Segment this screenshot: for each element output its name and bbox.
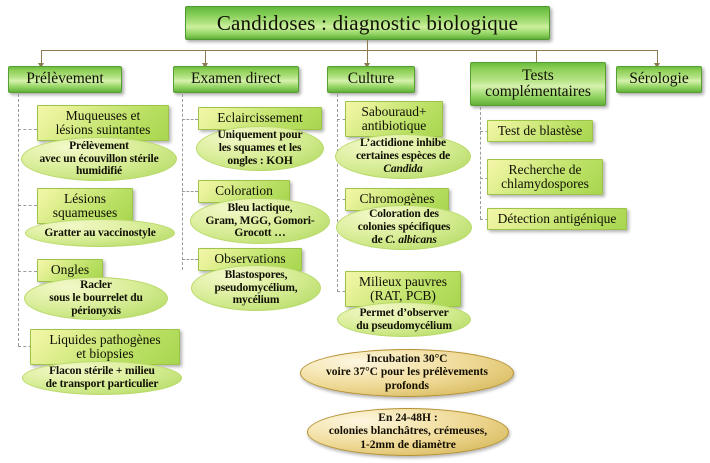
detail-milieux-pauvres-text: Permet d’observer du pseudomycélium [356, 307, 452, 333]
detail-chromogenes-text: Coloration des colonies spécifiques de C… [358, 208, 451, 247]
detail-coloration: Bleu lactique, Gram, MGG, Gomori- Grocot… [190, 198, 330, 244]
item-muqueuses-label: Muqueuses et lésions suintantes [56, 109, 151, 138]
examen-stub-3 [182, 259, 198, 260]
detail-muqueuses: Prélèvement avec un écouvillon stérile h… [21, 137, 177, 181]
item-recherche-chlamydospores[interactable]: Recherche de chlamydospores [487, 159, 603, 195]
branch-prelevement-label: Prélèvement [26, 71, 103, 87]
detail-liquides-pathogenes-text: Flacon stérile + milieu de transport par… [46, 365, 159, 391]
detail-sabouraud-line2: certaines espèces de [356, 150, 450, 162]
detail-ongles-text: Racler sous le bourrelet du périonyxis [49, 279, 143, 318]
diagram-title-box: Candidoses : diagnostic biologique [185, 6, 550, 40]
culture-spine [337, 94, 338, 292]
top-bus [41, 50, 657, 51]
branch-examen-direct-label: Examen direct [191, 71, 281, 87]
item-coloration-label: Coloration [215, 184, 273, 198]
item-lesions-squameuses-label: Lésions squameuses [53, 192, 118, 221]
detail-lesions-squameuses-text: Gratter au vaccinostyle [44, 227, 155, 240]
detail-milieux-pauvres: Permet d’observer du pseudomycélium [337, 302, 471, 337]
detail-chromogenes-line2: colonies spécifiques [358, 221, 451, 233]
detail-liquides-pathogenes: Flacon stérile + milieu de transport par… [22, 361, 182, 395]
item-detection-antigenique[interactable]: Détection antigénique [487, 208, 627, 230]
detail-sabouraud: L’actidione inhibe certaines espèces de … [335, 134, 471, 179]
detail-lesions-squameuses: Gratter au vaccinostyle [25, 219, 175, 247]
detail-sabouraud-species: Candida [383, 163, 422, 175]
tests-spine [480, 107, 481, 219]
branch-culture[interactable]: Culture [327, 66, 415, 93]
note-incubation: Incubation 30°C voire 37°C pour les prél… [300, 349, 514, 397]
item-liquides-pathogenes[interactable]: Liquides pathogènes et biopsies [30, 329, 180, 365]
examen-spine [182, 94, 183, 270]
detail-muqueuses-text: Prélèvement avec un écouvillon stérile h… [39, 140, 158, 179]
examen-stub-1 [182, 119, 198, 120]
item-recherche-chlamydospores-label: Recherche de chlamydospores [501, 163, 589, 192]
prelevement-stub-1 [18, 129, 37, 130]
branch-serologie-label: Sérologie [629, 71, 688, 87]
detail-chromogenes-line3-prefix: de [371, 234, 385, 246]
item-eclaircissement-label: Eclaircissement [217, 111, 302, 125]
detail-sabouraud-line1: L’actidione inhibe [360, 137, 446, 149]
item-ongles-label: Ongles [51, 263, 89, 277]
detail-chromogenes-line1: Coloration des [369, 208, 439, 220]
drop-serologie [657, 50, 658, 64]
drop-examen [205, 50, 206, 64]
detail-observations: Blastospores, pseudomycélium, mycélium [191, 265, 321, 311]
diagram-canvas: Candidoses : diagnostic biologique Prélè… [0, 0, 710, 463]
drop-prelevement [41, 50, 42, 64]
item-sabouraud[interactable]: Sabouraud+ antibiotique [345, 101, 443, 137]
detail-coloration-text: Bleu lactique, Gram, MGG, Gomori- Grocot… [205, 202, 314, 241]
branch-serologie[interactable]: Sérologie [616, 66, 702, 93]
prelevement-stub-3 [18, 271, 37, 272]
item-milieux-pauvres-label: Milieux pauvres (RAT, PCB) [359, 275, 447, 304]
prelevement-stub-2 [18, 205, 37, 206]
branch-tests-complementaires[interactable]: Tests complémentaires [470, 62, 606, 106]
detail-ongles: Racler sous le bourrelet du périonyxis [24, 277, 168, 320]
note-incubation-text: Incubation 30°C voire 37°C pour les prél… [326, 353, 488, 392]
detail-observations-text: Blastospores, pseudomycélium, mycélium [214, 269, 297, 308]
branch-culture-label: Culture [348, 71, 395, 87]
item-muqueuses[interactable]: Muqueuses et lésions suintantes [37, 105, 169, 141]
detail-sabouraud-text: L’actidione inhibe certaines espèces de … [356, 137, 450, 176]
item-liquides-pathogenes-label: Liquides pathogènes et biopsies [49, 333, 160, 362]
prelevement-spine [18, 94, 19, 346]
drop-culture [367, 50, 368, 64]
detail-chromogenes: Coloration des colonies spécifiques de C… [336, 205, 472, 250]
branch-tests-complementaires-label: Tests complémentaires [485, 68, 591, 101]
item-sabouraud-label: Sabouraud+ antibiotique [361, 105, 426, 134]
note-colonies: En 24-48H : colonies blanchâtres, crémeu… [307, 408, 509, 456]
examen-stub-2 [182, 191, 198, 192]
item-test-blastese[interactable]: Test de blastèse [487, 120, 593, 142]
branch-examen-direct[interactable]: Examen direct [173, 66, 299, 93]
detail-eclaircissement-text: Uniquement pour les squames et les ongle… [218, 129, 303, 168]
detail-chromogenes-species: C. albicans [385, 234, 436, 246]
item-test-blastese-label: Test de blastèse [498, 124, 583, 138]
branch-prelevement[interactable]: Prélèvement [8, 66, 122, 93]
item-detection-antigenique-label: Détection antigénique [498, 212, 617, 226]
diagram-title-text: Candidoses : diagnostic biologique [217, 12, 518, 34]
note-colonies-text: En 24-48H : colonies blanchâtres, crémeu… [329, 412, 487, 451]
detail-eclaircissement: Uniquement pour les squames et les ongle… [196, 126, 324, 171]
title-stem [367, 40, 368, 50]
